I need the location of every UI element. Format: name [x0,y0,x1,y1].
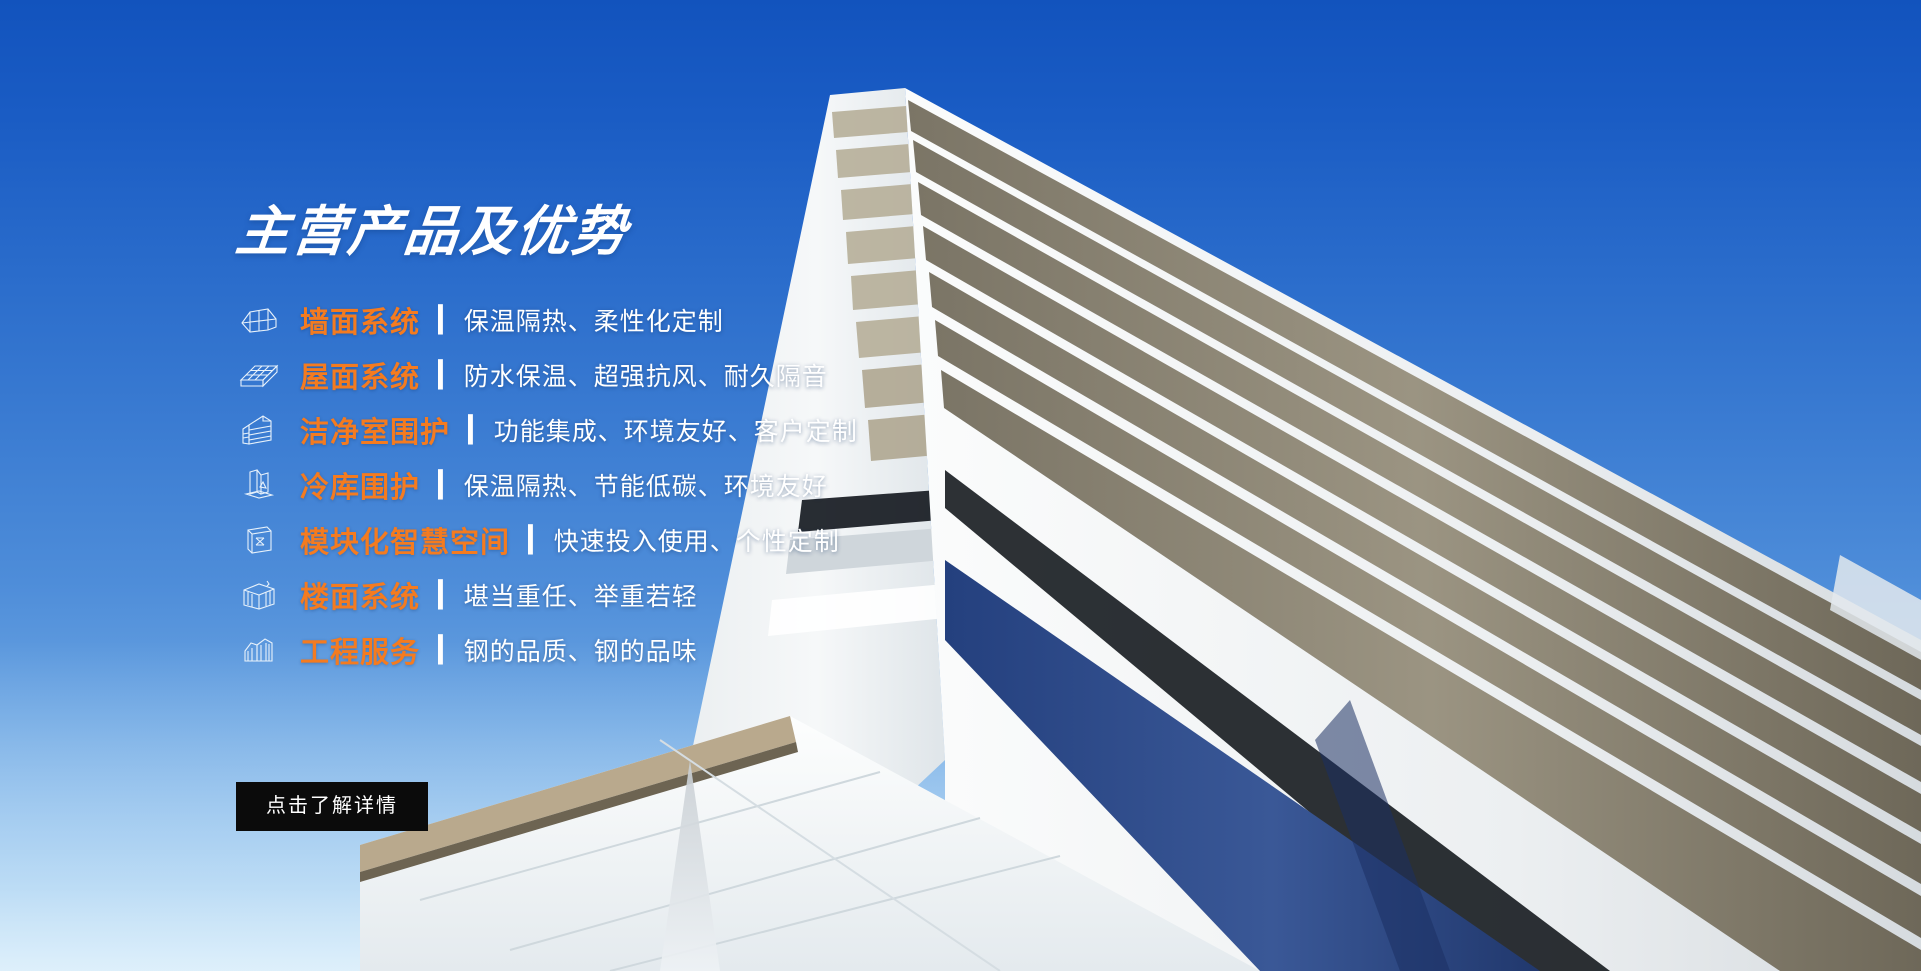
product-title: 工程服务 [300,629,420,671]
engineering-icon [236,629,282,671]
product-desc: 钢的品质、钢的品味 [464,632,698,668]
separator-bar: ▌ [438,360,448,389]
product-list: 墙面系统 ▌ 保温隔热、柔性化定制 屋面系统 ▌ 防水保温、超强抗风、耐久隔音 [236,292,1056,677]
product-desc: 防水保温、超强抗风、耐久隔音 [464,357,828,393]
list-item[interactable]: 屋面系统 ▌ 防水保温、超强抗风、耐久隔音 [236,347,1056,402]
product-title: 洁净室围护 [300,409,450,451]
list-item[interactable]: 洁净室围护 ▌ 功能集成、环境友好、客户定制 [236,402,1056,457]
product-title: 楼面系统 [300,574,420,616]
product-desc: 功能集成、环境友好、客户定制 [494,412,858,448]
product-title: 墙面系统 [300,299,420,341]
modular-space-icon [236,519,282,561]
separator-bar: ▌ [438,470,448,499]
hero-banner: 主营产品及优势 墙面系统 ▌ 保温隔热、柔性化定制 [0,0,1921,971]
product-desc: 堪当重任、举重若轻 [464,577,698,613]
product-desc: 保温隔热、柔性化定制 [464,302,724,338]
wall-system-icon [236,299,282,341]
product-title: 模块化智慧空间 [300,519,510,561]
product-title: 冷库围护 [300,464,420,506]
list-item[interactable]: 楼面系统 ▌ 堪当重任、举重若轻 [236,567,1056,622]
product-desc: 保温隔热、节能低碳、环境友好 [464,467,828,503]
separator-bar: ▌ [468,415,478,444]
cleanroom-icon [236,409,282,451]
roof-system-icon [236,354,282,396]
separator-bar: ▌ [438,305,448,334]
floor-system-icon [236,574,282,616]
page-title: 主营产品及优势 [233,205,631,259]
separator-bar: ▌ [528,525,538,554]
separator-bar: ▌ [438,580,448,609]
product-title: 屋面系统 [300,354,420,396]
list-item[interactable]: 模块化智慧空间 ▌ 快速投入使用、个性定制 [236,512,1056,567]
separator-bar: ▌ [438,635,448,664]
learn-more-button[interactable]: 点击了解详情 [236,782,428,831]
coldstorage-icon [236,464,282,506]
list-item[interactable]: 冷库围护 ▌ 保温隔热、节能低碳、环境友好 [236,457,1056,512]
hero-content: 主营产品及优势 墙面系统 ▌ 保温隔热、柔性化定制 [0,0,900,971]
product-desc: 快速投入使用、个性定制 [554,522,840,558]
list-item[interactable]: 工程服务 ▌ 钢的品质、钢的品味 [236,622,1056,677]
list-item[interactable]: 墙面系统 ▌ 保温隔热、柔性化定制 [236,292,1056,347]
